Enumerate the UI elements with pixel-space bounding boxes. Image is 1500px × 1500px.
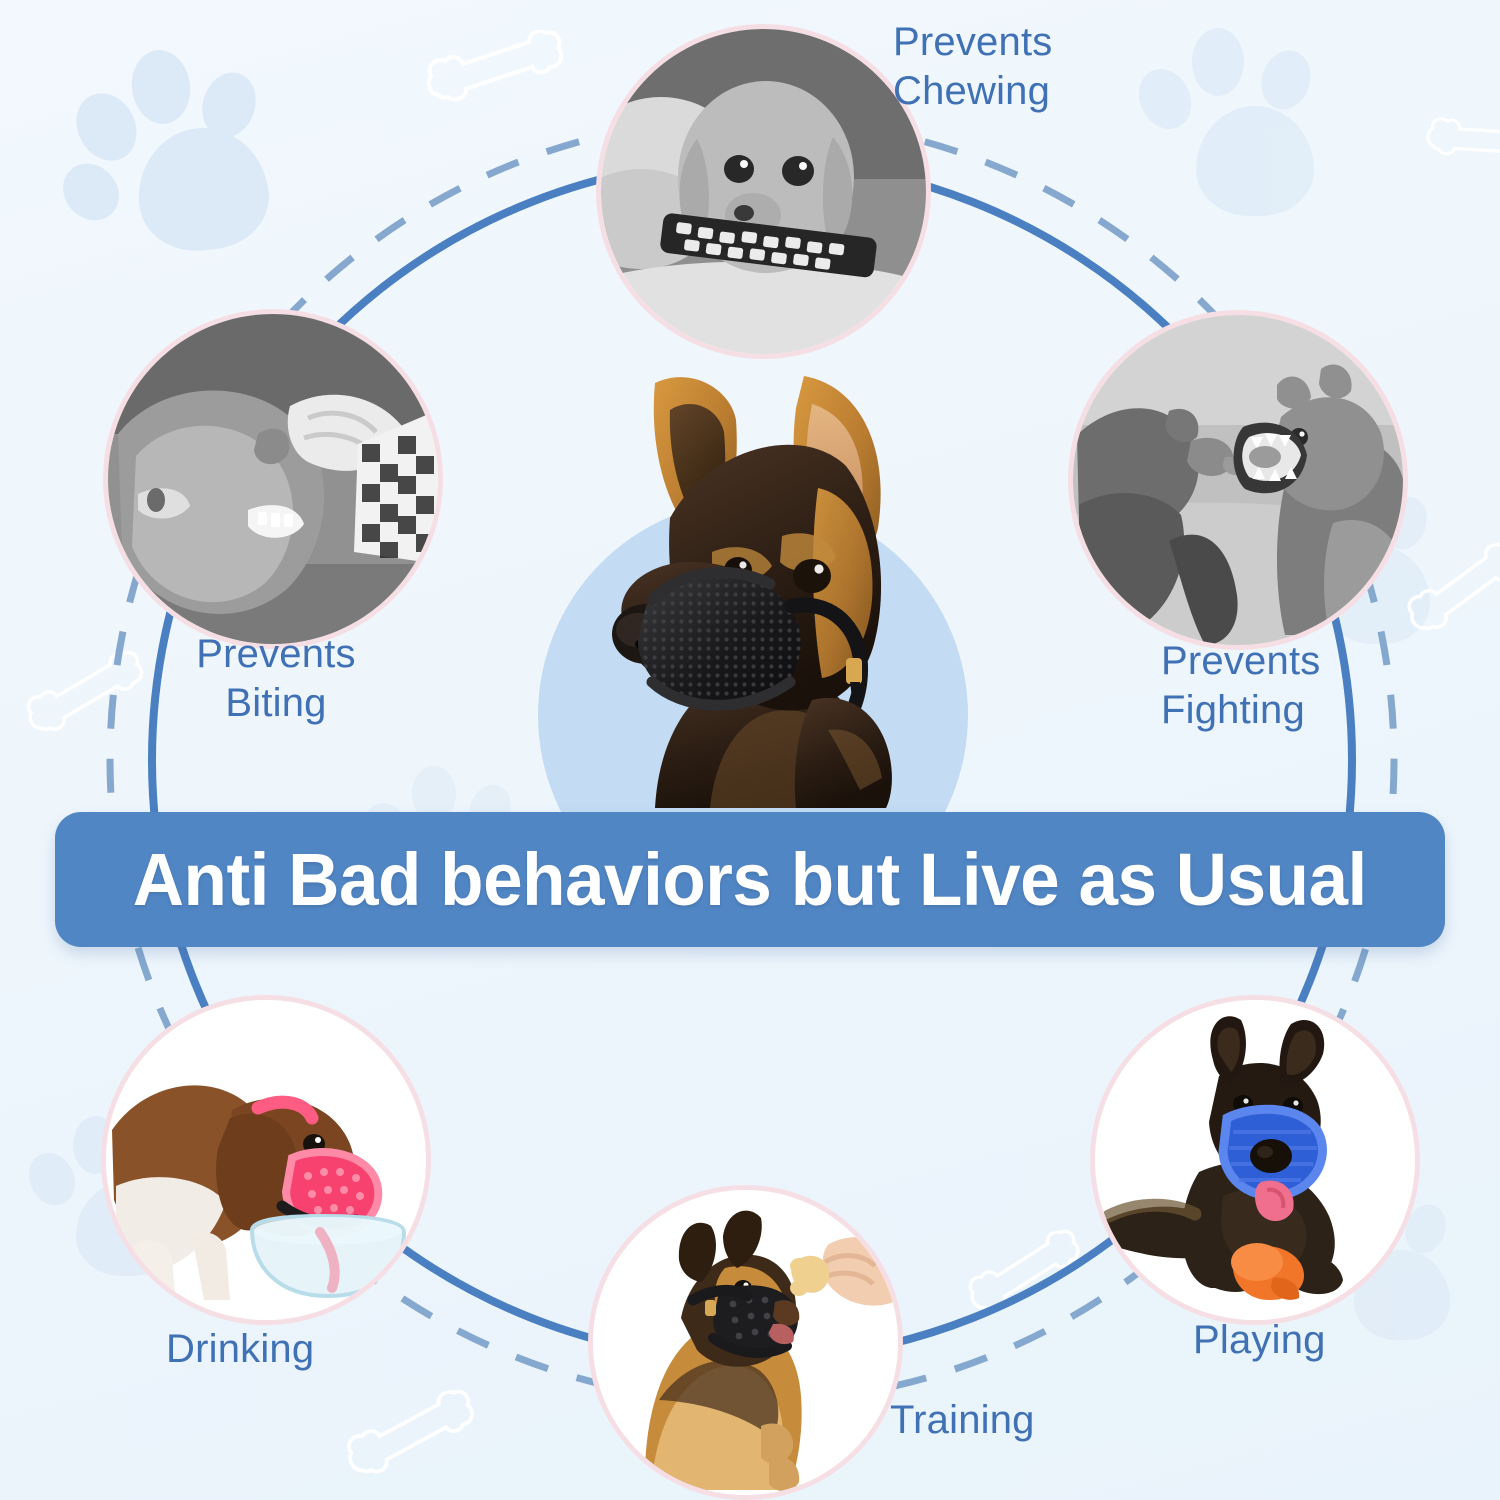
feature-label-drinking: Drinking <box>166 1325 314 1374</box>
hero-dog-image <box>560 338 960 818</box>
headline-text: Anti Bad behaviors but Live as Usual <box>133 837 1367 922</box>
feature-photo-chewing[interactable] <box>601 29 926 354</box>
feature-label-chewing: Prevents Chewing <box>893 18 1052 116</box>
feature-photo-drinking[interactable] <box>106 1000 426 1320</box>
dog-playing-with-blue-muzzle-photo <box>1095 1000 1415 1320</box>
feature-photo-fighting[interactable] <box>1073 315 1403 645</box>
feature-label-playing: Playing <box>1193 1316 1326 1365</box>
feature-photo-training[interactable] <box>593 1190 898 1495</box>
dog-biting-hand-photo <box>108 314 438 644</box>
dog-training-with-treat-photo <box>593 1190 898 1495</box>
feature-photo-playing[interactable] <box>1095 1000 1415 1320</box>
feature-photo-biting[interactable] <box>108 314 438 644</box>
beagle-drinking-with-pink-muzzle-photo <box>106 1000 426 1320</box>
feature-label-training: Training <box>890 1396 1035 1445</box>
feature-label-fighting: Prevents Fighting <box>1161 637 1320 735</box>
two-dogs-fighting-photo <box>1073 315 1403 645</box>
infographic-canvas: Prevents Chewing <box>0 0 1500 1500</box>
feature-label-biting: Prevents Biting <box>176 630 376 728</box>
headline-banner: Anti Bad behaviors but Live as Usual <box>55 812 1445 947</box>
puppy-chewing-remote-photo <box>601 29 926 354</box>
